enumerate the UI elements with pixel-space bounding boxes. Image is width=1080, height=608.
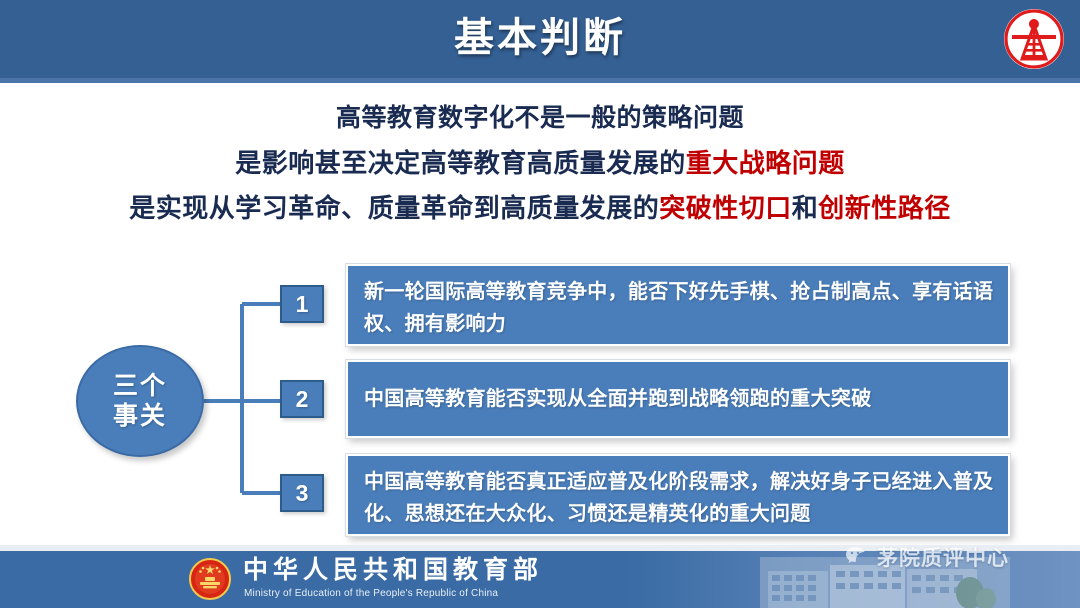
ministry-name-cn: 中华人民共和国教育部 [243, 556, 543, 586]
headline-line-3-plain-b: 和 [792, 193, 819, 223]
headline-line-3: 是实现从学习革命、质量革命到高质量发展的突破性切口和创新性路径 [0, 186, 1080, 231]
headline-line-3-highlight-a: 突破性切口 [659, 193, 792, 223]
number-chip-2: 2 [280, 380, 324, 418]
wechat-watermark-text: 茅院质评中心 [877, 542, 1009, 572]
headline-line-2-plain: 是影响甚至决定高等教育高质量发展的 [235, 148, 686, 178]
national-emblem-icon [188, 557, 232, 601]
diagram-root-line-1: 三个 [113, 371, 167, 401]
statement-box-1: 新一轮国际高等教育竞争中，能否下好先手棋、抢占制高点、享有话语权、拥有影响力 [346, 264, 1010, 346]
headline-line-2-highlight: 重大战略问题 [686, 148, 845, 178]
statement-box-2: 中国高等教育能否实现从全面并跑到战略领跑的重大突破 [346, 360, 1010, 438]
organization-logo-icon [1002, 7, 1066, 71]
headline-block: 高等教育数字化不是一般的策略问题 是影响甚至决定高等教育高质量发展的重大战略问题… [0, 96, 1080, 231]
diagram-root-node: 三个 事关 [76, 345, 204, 457]
wechat-icon [845, 546, 871, 568]
page-title: 基本判断 [0, 9, 1080, 67]
headline-line-3-plain-a: 是实现从学习革命、质量革命到高质量发展的 [129, 193, 659, 223]
header-underline [0, 78, 1080, 83]
number-chip-3: 3 [280, 474, 324, 512]
statement-box-3: 中国高等教育能否真正适应普及化阶段需求，解决好身子已经进入普及化、思想还在大众化… [346, 454, 1010, 536]
diagram-area: 三个 事关 1 2 3 新一轮国际高等教育竞争中，能否下好先手棋、抢占制高点、享… [0, 248, 1080, 540]
diagram-root-line-2: 事关 [113, 401, 167, 431]
headline-line-1: 高等教育数字化不是一般的策略问题 [0, 96, 1080, 141]
wechat-watermark: 茅院质评中心 [845, 542, 1009, 572]
slide-canvas: 基本判断 高等教育数字化不是一般的策略问题 是影响甚至决定高等教育高质量发展的重… [0, 0, 1080, 608]
headline-line-3-highlight-b: 创新性路径 [818, 193, 951, 223]
ministry-name-en: Ministry of Education of the People's Re… [244, 587, 498, 600]
number-chip-1: 1 [280, 285, 324, 323]
headline-line-2: 是影响甚至决定高等教育高质量发展的重大战略问题 [0, 141, 1080, 186]
